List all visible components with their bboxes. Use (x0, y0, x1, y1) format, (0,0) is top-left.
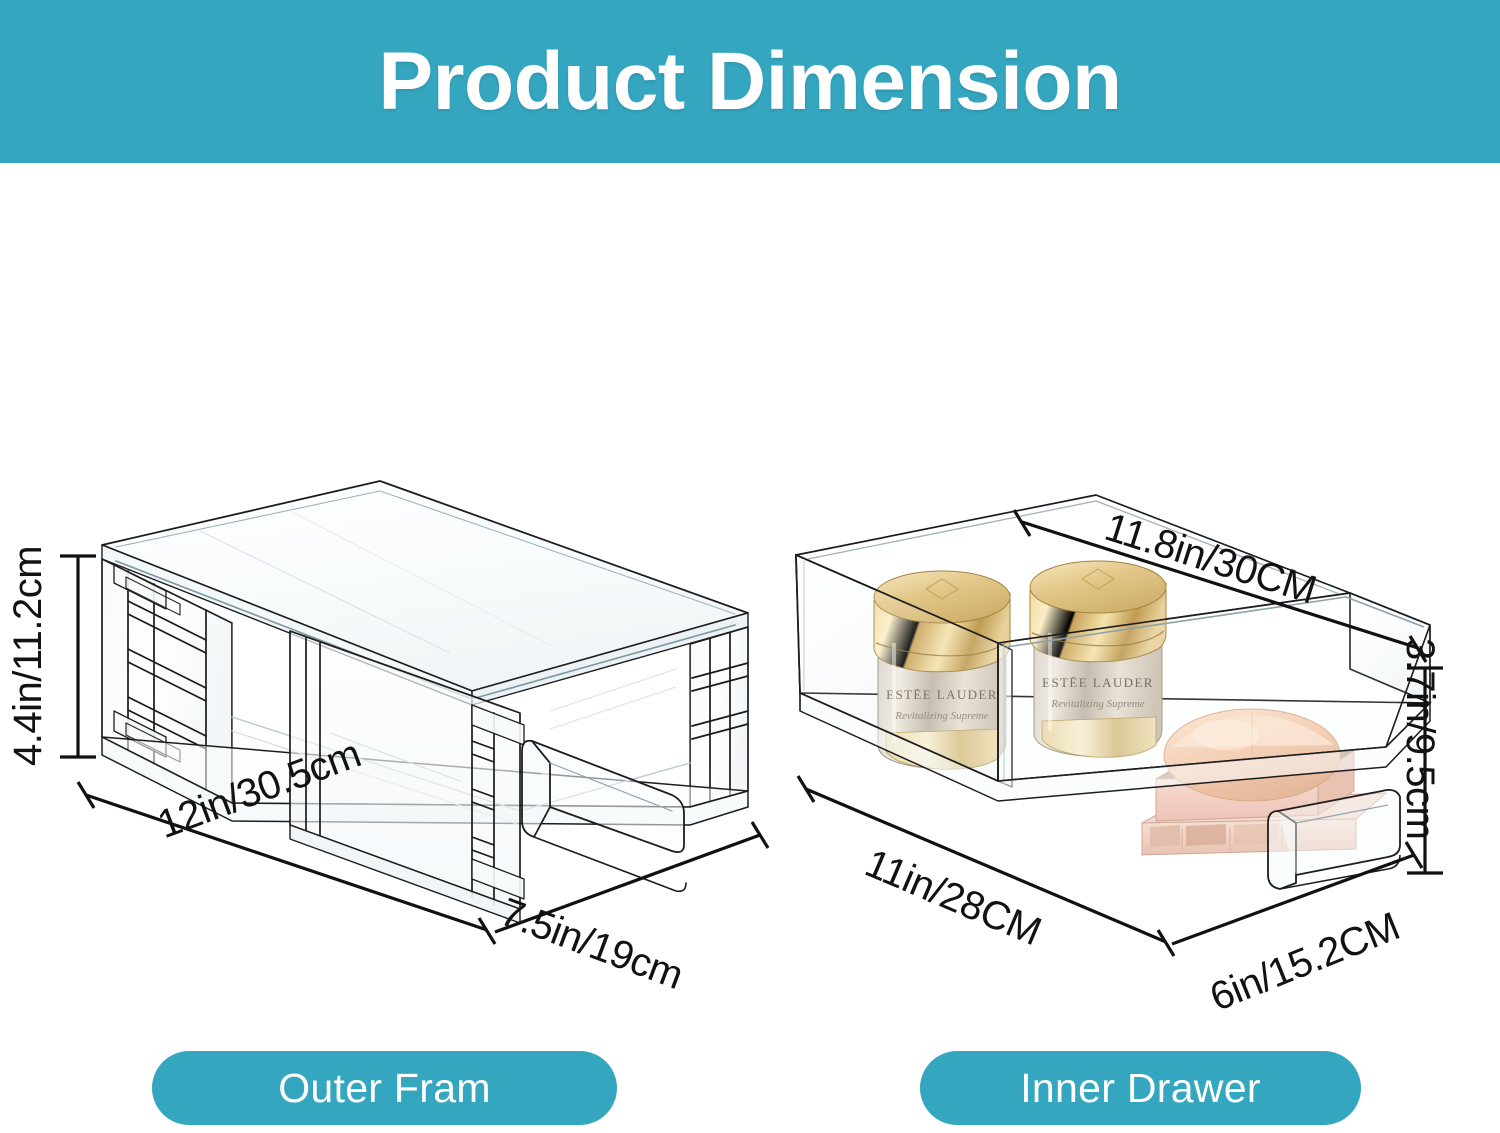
outer-frame-product-image (80, 473, 770, 923)
dimension-label-outer-height: 4.4in/11.2cm (6, 546, 51, 766)
header-banner: Product Dimension (0, 0, 1500, 163)
inner-drawer-pill-label: Inner Drawer (920, 1051, 1361, 1125)
outer-frame-svg (80, 473, 770, 923)
product-dimension-infographic: Product Dimension (0, 0, 1500, 1133)
dimension-label-inner-height: 3.7in/9.5cm (1397, 638, 1442, 839)
page-title: Product Dimension (378, 41, 1121, 123)
outer-frame-right-panel (690, 627, 748, 807)
outer-frame-pill-label: Outer Fram (152, 1051, 617, 1125)
